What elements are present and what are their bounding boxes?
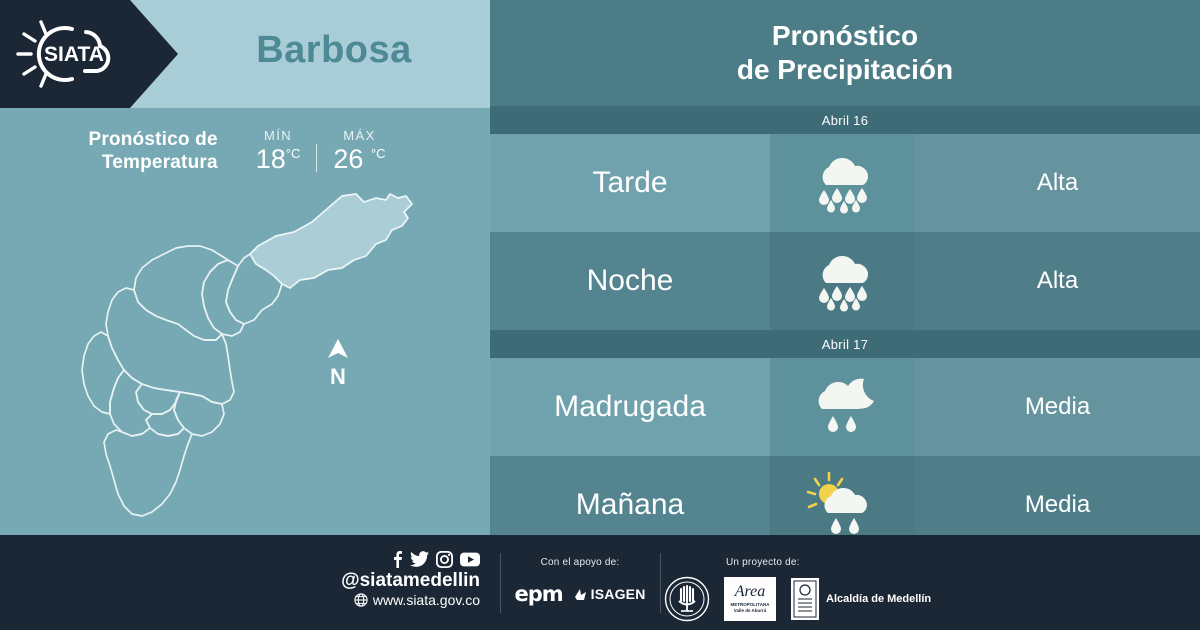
footer-project-block: Un proyecto de: Area METROPOLITANAValle … bbox=[660, 557, 940, 622]
forecast-row[interactable]: Madrugada Media bbox=[490, 358, 1200, 456]
rain-cloud-icon bbox=[770, 232, 915, 330]
compass-label: N bbox=[321, 366, 355, 388]
temperature-max-caption: MÁX bbox=[333, 128, 385, 143]
forecast-title-line2: de Precipitación bbox=[737, 53, 953, 87]
temperature-min-caption: MÍN bbox=[256, 128, 301, 143]
rain-cloud-icon bbox=[770, 134, 915, 232]
precipitation-panel: Pronóstico de Precipitación Abril 16 Tar… bbox=[490, 0, 1200, 535]
map-region-barbosa bbox=[250, 194, 412, 288]
map-region-caldas bbox=[104, 428, 192, 516]
unal-seal-icon bbox=[664, 576, 710, 622]
epm-logo: epm bbox=[514, 582, 562, 606]
forecast-time-label: Tarde bbox=[490, 134, 770, 232]
footer-social-block: @siatamedellin www.siata.gov.co bbox=[330, 549, 480, 608]
social-handle[interactable]: @siatamedellin bbox=[330, 570, 480, 592]
support-label: Con el apoyo de: bbox=[500, 557, 660, 568]
moon-rain-cloud-icon bbox=[770, 358, 915, 456]
project-logos: Area METROPOLITANAValle de Aburrá Alcald… bbox=[660, 576, 940, 622]
forecast-probability: Alta bbox=[915, 232, 1200, 330]
alcaldia-logo: Alcaldía de Medellín bbox=[790, 577, 931, 621]
alcaldia-label: Alcaldía de Medellín bbox=[826, 593, 931, 605]
page-title: Barbosa bbox=[178, 0, 490, 100]
youtube-icon[interactable] bbox=[460, 552, 480, 567]
project-label: Un proyecto de: bbox=[660, 557, 940, 568]
siata-logo-text: SIATA bbox=[44, 43, 104, 66]
temperature-min-value: 18°C bbox=[256, 144, 301, 174]
temperature-max: MÁX 26 °C bbox=[317, 128, 401, 175]
forecast-time-label: Madrugada bbox=[490, 358, 770, 456]
date-header-1: Abril 17 bbox=[490, 330, 1200, 358]
temperature-header: Pronóstico de Temperatura MÍN 18°C MÁX 2… bbox=[0, 118, 490, 184]
map-region-medellin-west bbox=[82, 332, 124, 414]
map-region-sabaneta bbox=[146, 402, 184, 436]
area-logo-script: Area bbox=[735, 584, 766, 600]
temperature-min-unit: °C bbox=[286, 146, 301, 161]
forecast-row[interactable]: Noche Alta bbox=[490, 232, 1200, 330]
forecast-probability: Media bbox=[915, 358, 1200, 456]
temperature-min: MÍN 18°C bbox=[240, 128, 317, 175]
temperature-max-unit: °C bbox=[371, 146, 386, 161]
area-metropolitana-logo: Area METROPOLITANAValle de Aburrá bbox=[724, 577, 776, 621]
alcaldia-shield-icon bbox=[790, 577, 820, 621]
support-logos: epm ISAGEN bbox=[500, 582, 660, 606]
facebook-icon[interactable] bbox=[392, 550, 403, 568]
map-region-medellin bbox=[106, 288, 234, 404]
map-svg bbox=[46, 184, 446, 532]
weather-forecast-poster: SIATA Barbosa Pronóstico de Temperatura … bbox=[0, 0, 1200, 630]
temperature-values: MÍN 18°C MÁX 26 °C bbox=[240, 128, 402, 175]
forecast-time-label: Noche bbox=[490, 232, 770, 330]
isagen-logo: ISAGEN bbox=[573, 586, 646, 602]
left-panel: SIATA Barbosa Pronóstico de Temperatura … bbox=[0, 0, 490, 535]
map-region-la-estrella bbox=[110, 370, 152, 436]
forecast-title-line1: Pronóstico bbox=[772, 19, 918, 53]
area-logo-subtitle: METROPOLITANAValle de Aburrá bbox=[731, 602, 770, 613]
globe-icon bbox=[354, 593, 368, 607]
temperature-title: Pronóstico de Temperatura bbox=[88, 128, 217, 174]
forecast-title: Pronóstico de Precipitación bbox=[490, 0, 1200, 106]
date-header-0: Abril 16 bbox=[490, 106, 1200, 134]
aburra-valley-map: N bbox=[46, 184, 446, 532]
footer-support-block: Con el apoyo de: epm ISAGEN bbox=[500, 557, 660, 606]
temperature-max-value: 26 °C bbox=[333, 144, 385, 174]
twitter-icon[interactable] bbox=[410, 550, 429, 568]
north-arrow-icon bbox=[326, 339, 350, 359]
temperature-title-line1: Pronóstico de bbox=[88, 129, 217, 150]
footer: @siatamedellin www.siata.gov.co Con el a… bbox=[0, 535, 1200, 630]
website-line[interactable]: www.siata.gov.co bbox=[330, 592, 480, 608]
instagram-icon[interactable] bbox=[436, 551, 453, 568]
forecast-row[interactable]: Tarde Alta bbox=[490, 134, 1200, 232]
website-url: www.siata.gov.co bbox=[373, 592, 480, 608]
temperature-title-line2: Temperatura bbox=[102, 152, 218, 173]
sun-cloud-logo-icon: SIATA bbox=[14, 16, 132, 92]
social-icons bbox=[330, 549, 480, 569]
map-region-copacabana bbox=[202, 260, 244, 336]
isagen-mark-icon bbox=[573, 587, 588, 602]
forecast-probability: Alta bbox=[915, 134, 1200, 232]
compass: N bbox=[321, 339, 355, 391]
